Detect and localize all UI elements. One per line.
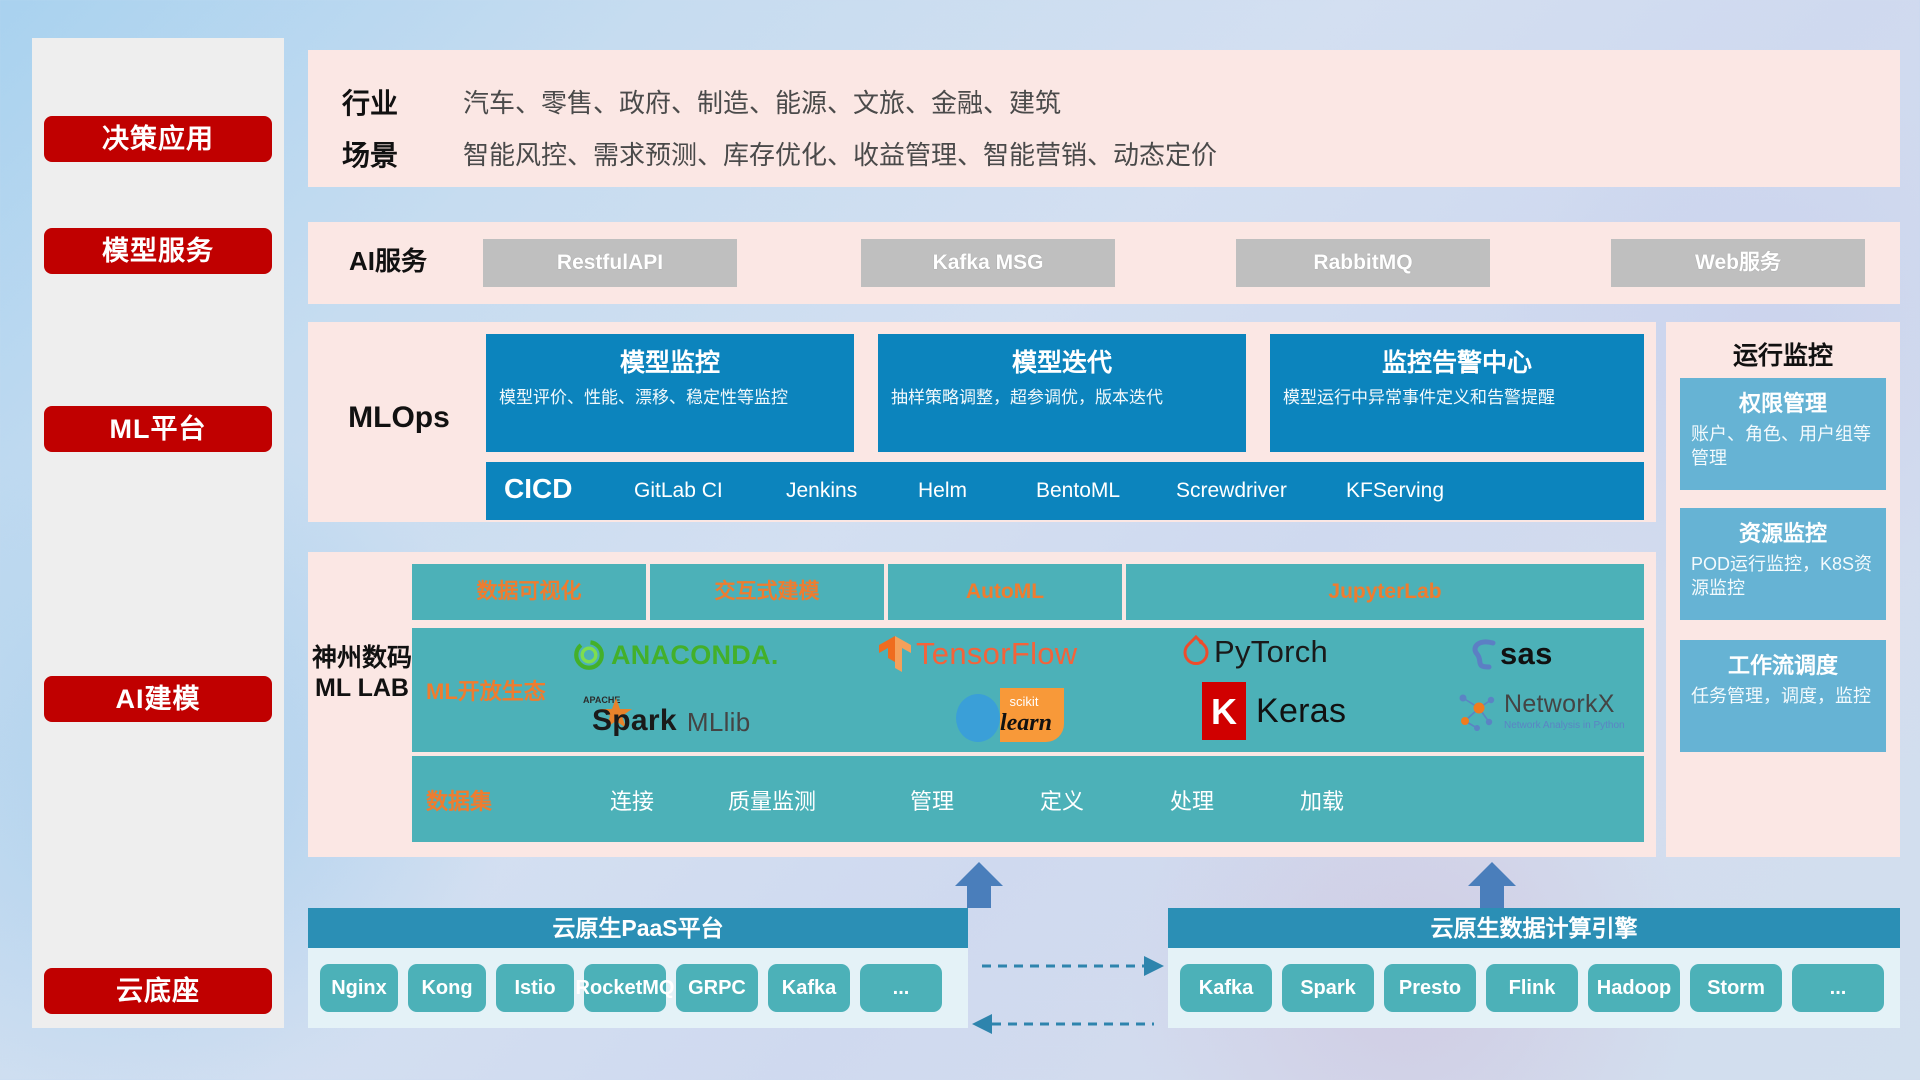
dataset-item-quality[interactable]: 质量监测 [712, 784, 832, 816]
bidirectional-connector [968, 952, 1168, 1042]
service-chip-web-service[interactable]: Web服务 [1611, 239, 1865, 287]
keras-logo: K Keras [1202, 682, 1346, 740]
lab-tool-data-visualization[interactable]: 数据可视化 [412, 564, 646, 620]
monitoring-card-resource[interactable]: 资源监控 POD运行监控，K8S资源监控 [1680, 508, 1886, 620]
service-chip-restfulapi[interactable]: RestfulAPI [483, 239, 737, 287]
dataset-item-connect[interactable]: 连接 [572, 784, 692, 816]
paas-chip-tray: Nginx Kong Istio RocketMQ GRPC Kafka ... [308, 948, 968, 1028]
engine-chip-storm[interactable]: Storm [1690, 964, 1782, 1012]
networkx-logo: NetworkX Network Analysis in Python [1455, 688, 1625, 734]
anaconda-logo: ANACONDA. [572, 638, 779, 672]
mlops-card-desc: 抽样策略调整，超参调优，版本迭代 [891, 386, 1233, 409]
tensorflow-icon [877, 634, 913, 674]
scenario-label: 场景 [342, 134, 398, 174]
keras-logo-text: Keras [1256, 692, 1346, 731]
dataset-item-manage[interactable]: 管理 [872, 784, 992, 816]
layer-rail: 决策应用 模型服务 ML平台 AI建模 云底座 [32, 38, 284, 1028]
cloud-group-data-engine: 云原生数据计算引擎 Kafka Spark Presto Flink Hadoo… [1168, 908, 1900, 1028]
cicd-label: CICD [504, 473, 572, 505]
lab-tool-interactive-modeling[interactable]: 交互式建模 [650, 564, 884, 620]
dataset-label: 数据集 [426, 784, 492, 816]
mlops-card-title: 监控告警中心 [1283, 343, 1631, 379]
pytorch-icon [1182, 634, 1210, 670]
ml-lab-label: 神州数码 ML LAB [312, 644, 412, 703]
pytorch-logo: PyTorch [1182, 634, 1328, 670]
engine-chip-hadoop[interactable]: Hadoop [1588, 964, 1680, 1012]
mlops-card-title: 模型监控 [499, 343, 841, 379]
tensorflow-logo: TensorFlow [877, 634, 1078, 674]
cicd-item-helm[interactable]: Helm [918, 478, 1038, 504]
panel-ai-modeling: 神州数码 ML LAB 数据可视化 交互式建模 AutoML JupyterLa… [308, 552, 1656, 857]
dataset-box: 数据集 连接 质量监测 管理 定义 处理 加载 [412, 756, 1644, 842]
scikit-text: scikit [1010, 694, 1039, 709]
engine-chip-presto[interactable]: Presto [1384, 964, 1476, 1012]
paas-chip-grpc[interactable]: GRPC [676, 964, 758, 1012]
panel-model-service: AI服务 RestfulAPI Kafka MSG RabbitMQ Web服务 [308, 222, 1900, 304]
up-arrow-data-engine [1466, 860, 1518, 908]
cicd-bar: CICD GitLab CI Jenkins Helm BentoML Scre… [486, 462, 1644, 520]
sas-logo: sas [1467, 636, 1553, 672]
mlops-card-desc: 模型运行中异常事件定义和告警提醒 [1283, 386, 1631, 409]
service-chip-kafka-msg[interactable]: Kafka MSG [861, 239, 1115, 287]
paas-chip-rocketmq[interactable]: RocketMQ [584, 964, 666, 1012]
paas-chip-kafka[interactable]: Kafka [768, 964, 850, 1012]
sas-logo-text: sas [1500, 636, 1553, 672]
panel-decision-application: 行业 汽车、零售、政府、制造、能源、文旅、金融、建筑 场景 智能风控、需求预测、… [308, 50, 1900, 187]
networkx-icon [1455, 688, 1499, 734]
mlops-label: MLOps [316, 400, 482, 435]
mlops-card-desc: 模型评价、性能、漂移、稳定性等监控 [499, 386, 841, 409]
paas-title: 云原生PaaS平台 [308, 908, 968, 948]
layer-chip-ai-modeling[interactable]: AI建模 [44, 676, 272, 722]
pytorch-logo-text: PyTorch [1214, 634, 1328, 670]
networkx-logo-text: NetworkX [1504, 692, 1625, 717]
engine-chip-flink[interactable]: Flink [1486, 964, 1578, 1012]
monitoring-card-desc: 任务管理，调度，监控 [1691, 685, 1875, 709]
paas-chip-nginx[interactable]: Nginx [320, 964, 398, 1012]
scikit-learn-icon: scikit learn [952, 684, 1082, 746]
anaconda-icon [572, 638, 606, 672]
cicd-item-bentoml[interactable]: BentoML [1036, 478, 1156, 504]
scikit-learn-logo: scikit learn [952, 684, 1082, 746]
networkx-tagline: Network Analysis in Python [1504, 720, 1625, 731]
dataset-item-define[interactable]: 定义 [1002, 784, 1122, 816]
ml-open-ecosystem-label: ML开放生态 [426, 674, 546, 706]
monitoring-title: 运行监控 [1666, 336, 1900, 372]
monitoring-card-title: 工作流调度 [1691, 648, 1875, 680]
monitoring-card-title: 资源监控 [1691, 516, 1875, 548]
learn-text: learn [1000, 710, 1052, 736]
engine-chip-kafka[interactable]: Kafka [1180, 964, 1272, 1012]
industry-value: 汽车、零售、政府、制造、能源、文旅、金融、建筑 [463, 83, 1061, 120]
dataset-item-load[interactable]: 加载 [1262, 784, 1382, 816]
dataset-item-process[interactable]: 处理 [1132, 784, 1252, 816]
layer-chip-ml-platform[interactable]: ML平台 [44, 406, 272, 452]
ml-lab-label-line1: 神州数码 [312, 644, 412, 672]
industry-label: 行业 [342, 82, 398, 122]
keras-icon: K [1202, 682, 1246, 740]
lab-tool-automl[interactable]: AutoML [888, 564, 1122, 620]
ml-open-ecosystem-box: ML开放生态 ANACONDA. TensorFlow [412, 628, 1644, 752]
layer-chip-decision[interactable]: 决策应用 [44, 116, 272, 162]
layer-chip-model-service[interactable]: 模型服务 [44, 228, 272, 274]
lab-tool-jupyterlab[interactable]: JupyterLab [1126, 564, 1644, 620]
layer-chip-cloud-base[interactable]: 云底座 [44, 968, 272, 1014]
data-engine-title: 云原生数据计算引擎 [1168, 908, 1900, 948]
anaconda-logo-text: ANACONDA. [611, 640, 779, 671]
sas-icon [1467, 637, 1499, 671]
spark-logo-text: Spark [592, 704, 677, 738]
engine-chip-more[interactable]: ... [1792, 964, 1884, 1012]
cloud-group-paas: 云原生PaaS平台 Nginx Kong Istio RocketMQ GRPC… [308, 908, 968, 1028]
service-chip-rabbitmq[interactable]: RabbitMQ [1236, 239, 1490, 287]
paas-chip-istio[interactable]: Istio [496, 964, 574, 1012]
engine-chip-spark[interactable]: Spark [1282, 964, 1374, 1012]
cicd-item-jenkins[interactable]: Jenkins [786, 478, 906, 504]
monitoring-card-desc: POD运行监控，K8S资源监控 [1691, 553, 1875, 601]
arrowhead-left [972, 1014, 992, 1034]
data-engine-chip-tray: Kafka Spark Presto Flink Hadoop Storm ..… [1168, 948, 1900, 1028]
architecture-body: 行业 汽车、零售、政府、制造、能源、文旅、金融、建筑 场景 智能风控、需求预测、… [308, 0, 1900, 1080]
cicd-item-kfserving[interactable]: KFServing [1346, 478, 1466, 504]
mlops-card-model-iteration[interactable]: 模型迭代 抽样策略调整，超参调优，版本迭代 [878, 334, 1246, 452]
arrowhead-right [1144, 956, 1164, 976]
scenario-value: 智能风控、需求预测、库存优化、收益管理、智能营销、动态定价 [463, 135, 1217, 172]
monitoring-card-workflow[interactable]: 工作流调度 任务管理，调度，监控 [1680, 640, 1886, 752]
panel-ml-platform: MLOps 模型监控 模型评价、性能、漂移、稳定性等监控 模型迭代 抽样策略调整… [308, 322, 1656, 522]
mlops-card-alert-center[interactable]: 监控告警中心 模型运行中异常事件定义和告警提醒 [1270, 334, 1644, 452]
panel-runtime-monitoring: 运行监控 权限管理 账户、角色、用户组等管理 资源监控 POD运行监控，K8S资… [1666, 322, 1900, 857]
ai-service-label: AI服务 [328, 246, 448, 277]
ml-lab-label-line2: ML LAB [315, 674, 409, 702]
spark-mllib-logo: APACHE Spark MLlib [580, 690, 751, 738]
up-arrow-paas [953, 860, 1005, 908]
monitoring-card-title: 权限管理 [1691, 386, 1875, 418]
monitoring-card-desc: 账户、角色、用户组等管理 [1691, 423, 1875, 471]
mlops-card-model-monitoring[interactable]: 模型监控 模型评价、性能、漂移、稳定性等监控 [486, 334, 854, 452]
monitoring-card-permission[interactable]: 权限管理 账户、角色、用户组等管理 [1680, 378, 1886, 490]
paas-chip-more[interactable]: ... [860, 964, 942, 1012]
mlops-card-title: 模型迭代 [891, 343, 1233, 379]
keras-k-letter: K [1211, 691, 1237, 732]
cicd-item-screwdriver[interactable]: Screwdriver [1176, 478, 1296, 504]
cicd-item-gitlab-ci[interactable]: GitLab CI [634, 478, 754, 504]
mllib-logo-text: MLlib [687, 707, 751, 738]
paas-chip-kong[interactable]: Kong [408, 964, 486, 1012]
tensorflow-logo-text: TensorFlow [916, 636, 1078, 672]
